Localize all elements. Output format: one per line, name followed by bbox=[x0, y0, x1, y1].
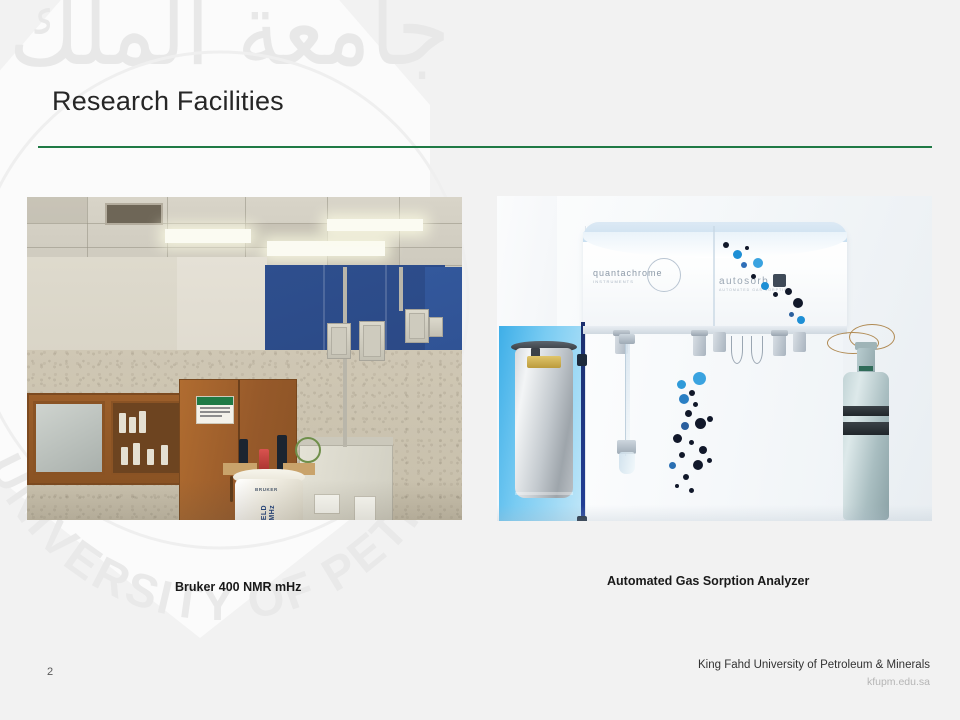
brand-sublabel-autosorb: AUTOMATED GAS SORPTION bbox=[719, 288, 792, 292]
ceiling-light-panel bbox=[327, 219, 423, 231]
sample-bulb bbox=[619, 452, 635, 474]
footer-university-name: King Fahd University of Petroleum & Mine… bbox=[698, 659, 930, 671]
cylinder-tag bbox=[859, 366, 873, 371]
sample-hook bbox=[751, 336, 763, 364]
bubble-graphic bbox=[689, 390, 695, 396]
cabinet-open-shelf bbox=[111, 401, 181, 475]
cylinder-band bbox=[843, 406, 889, 416]
gas-hose bbox=[295, 437, 321, 463]
wall-electrical-box bbox=[405, 309, 429, 343]
glass-sample-tube bbox=[625, 338, 630, 456]
analyzer-hood-seam bbox=[713, 226, 715, 326]
dewar-base-ring bbox=[515, 492, 573, 495]
bubble-graphic bbox=[699, 446, 707, 454]
figure-image-nmr: BRUKER ULTRASHIELD 400 MHz PLUS bbox=[27, 197, 462, 520]
bubble-graphic bbox=[773, 292, 778, 297]
magnet-valve bbox=[259, 449, 269, 471]
nmr-lab-scene: BRUKER ULTRASHIELD 400 MHz PLUS bbox=[27, 197, 462, 520]
gas-cylinder bbox=[843, 372, 889, 520]
page-title: Research Facilities bbox=[52, 86, 284, 117]
bubble-graphic bbox=[723, 242, 729, 248]
wall-electrical-box bbox=[359, 321, 385, 361]
manifold-valve bbox=[713, 332, 726, 352]
slide-canvas: جامعة الملك فهد للبترول والمعادن UNIVERS… bbox=[0, 0, 960, 720]
cylinder-band bbox=[843, 422, 889, 435]
bubble-graphic bbox=[751, 274, 756, 279]
wall-electrical-box bbox=[327, 323, 351, 359]
bubble-graphic bbox=[679, 452, 685, 458]
bubble-graphic bbox=[745, 246, 749, 250]
bubble-graphic bbox=[673, 434, 682, 443]
floor-shadow bbox=[27, 480, 462, 520]
bubble-graphic bbox=[679, 394, 689, 404]
wall-conduit bbox=[399, 267, 403, 311]
bubble-graphic bbox=[741, 262, 747, 268]
ceiling-light-panel bbox=[165, 229, 251, 243]
bubble-graphic bbox=[677, 380, 686, 389]
floor-line bbox=[497, 505, 932, 521]
sample-hook bbox=[731, 336, 743, 364]
stainless-dewar bbox=[515, 348, 573, 498]
bubble-graphic bbox=[693, 460, 703, 470]
bubble-graphic bbox=[707, 458, 712, 463]
brand-label-quantachrome: quantachrome bbox=[593, 268, 663, 278]
ceiling-vent bbox=[105, 203, 163, 225]
figure-image-sorption-analyzer: quantachrome INSTRUMENTS autosorb AUTOMA… bbox=[497, 196, 932, 521]
panel-clip bbox=[577, 354, 587, 366]
bubble-graphic bbox=[789, 312, 794, 317]
bubble-graphic bbox=[693, 372, 706, 385]
wall-switch-box bbox=[429, 317, 443, 337]
brand-mark-icon bbox=[773, 274, 786, 287]
bubble-graphic bbox=[793, 298, 803, 308]
valve-knob bbox=[691, 330, 708, 336]
bubble-graphic bbox=[797, 316, 805, 324]
brand-sublabel-quantachrome: INSTRUMENTS bbox=[593, 279, 634, 284]
bubble-graphic bbox=[761, 282, 769, 290]
dewar-brand-badge bbox=[527, 356, 561, 368]
footer-website-url[interactable]: kfupm.edu.sa bbox=[867, 676, 930, 688]
blue-panel-edge bbox=[581, 322, 585, 521]
wall-cabinet-upper bbox=[27, 393, 187, 485]
bubble-graphic bbox=[681, 422, 689, 430]
bubble-graphic bbox=[675, 484, 679, 488]
bubble-graphic bbox=[669, 462, 676, 469]
valve-knob bbox=[771, 330, 788, 336]
cabinet-glass-door bbox=[33, 401, 105, 475]
bubble-graphic bbox=[685, 410, 692, 417]
page-number: 2 bbox=[47, 666, 53, 678]
bubble-graphic bbox=[707, 416, 713, 422]
bubble-graphic bbox=[733, 250, 742, 259]
bubble-graphic bbox=[689, 440, 694, 445]
bubble-graphic bbox=[785, 288, 792, 295]
cabinet-warning-sign bbox=[196, 396, 234, 424]
figure-caption-sorption-analyzer: Automated Gas Sorption Analyzer bbox=[607, 574, 809, 588]
bubble-graphic bbox=[695, 418, 706, 429]
bubble-graphic bbox=[693, 402, 698, 407]
gas-sorption-analyzer-scene: quantachrome INSTRUMENTS autosorb AUTOMA… bbox=[497, 196, 932, 521]
bubble-graphic bbox=[753, 258, 763, 268]
title-underline-rule bbox=[38, 146, 932, 148]
bubble-graphic bbox=[683, 474, 689, 480]
tube-fitting bbox=[619, 334, 635, 344]
bubble-graphic bbox=[689, 488, 694, 493]
manifold-valve bbox=[793, 332, 806, 352]
figure-caption-nmr: Bruker 400 NMR mHz bbox=[175, 580, 301, 594]
ceiling-light-panel bbox=[267, 241, 385, 256]
